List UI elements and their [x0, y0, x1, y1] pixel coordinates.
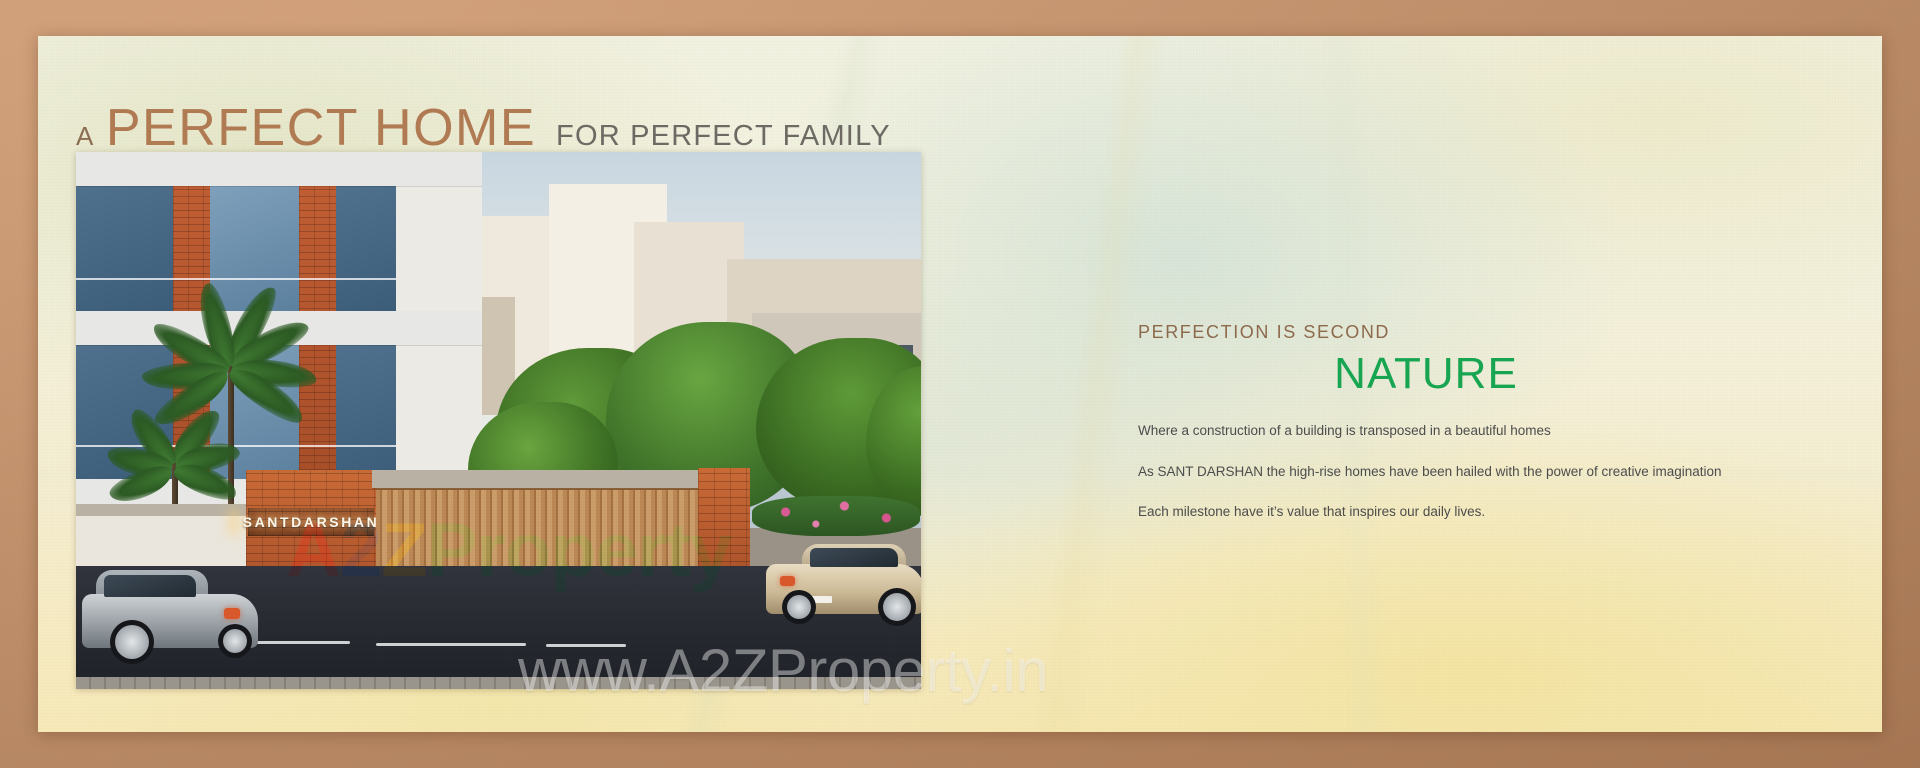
- glass-bay-2: [210, 186, 299, 312]
- copy-title: NATURE: [1094, 349, 1758, 399]
- facade-panel-1: [396, 186, 481, 312]
- project-photo: SANTDARSHAN: [76, 152, 921, 689]
- car-beige: [766, 544, 921, 614]
- project-signboard: SANTDARSHAN: [248, 508, 374, 536]
- copy-paragraph-3: Each milestone have it’s value that insp…: [1138, 502, 1758, 522]
- lane-marking-1: [254, 641, 350, 644]
- flower-bed: [752, 496, 920, 536]
- lane-marking-3: [546, 644, 626, 647]
- copy-paragraph-1: Where a construction of a building is tr…: [1138, 421, 1758, 441]
- headline-tail: FOR PERFECT FAMILY: [556, 120, 891, 153]
- glass-bay-1: [76, 186, 173, 312]
- gate-beam: [372, 470, 702, 488]
- floor-slab-top: [76, 152, 482, 186]
- car-silver: [82, 570, 258, 648]
- lane-marking-2: [376, 643, 526, 646]
- headline-lead: A: [76, 121, 94, 152]
- glass-bay-3: [336, 186, 397, 312]
- copy-block: PERFECTION IS SECOND NATURE Where a cons…: [1138, 322, 1758, 522]
- glass-bay-6: [336, 345, 397, 479]
- balcony-rail-1: [76, 278, 396, 280]
- headline-main: PERFECT HOME: [106, 98, 536, 158]
- copy-kicker: PERFECTION IS SECOND: [1138, 322, 1758, 343]
- poster-card: A PERFECT HOME FOR PERFECT FAMILY: [38, 36, 1882, 732]
- signboard-label: SANTDARSHAN: [243, 514, 380, 530]
- copy-paragraph-2: As SANT DARSHAN the high-rise homes have…: [1138, 462, 1758, 482]
- kerb-strip: [76, 677, 921, 689]
- page-title: A PERFECT HOME FOR PERFECT FAMILY: [76, 98, 891, 158]
